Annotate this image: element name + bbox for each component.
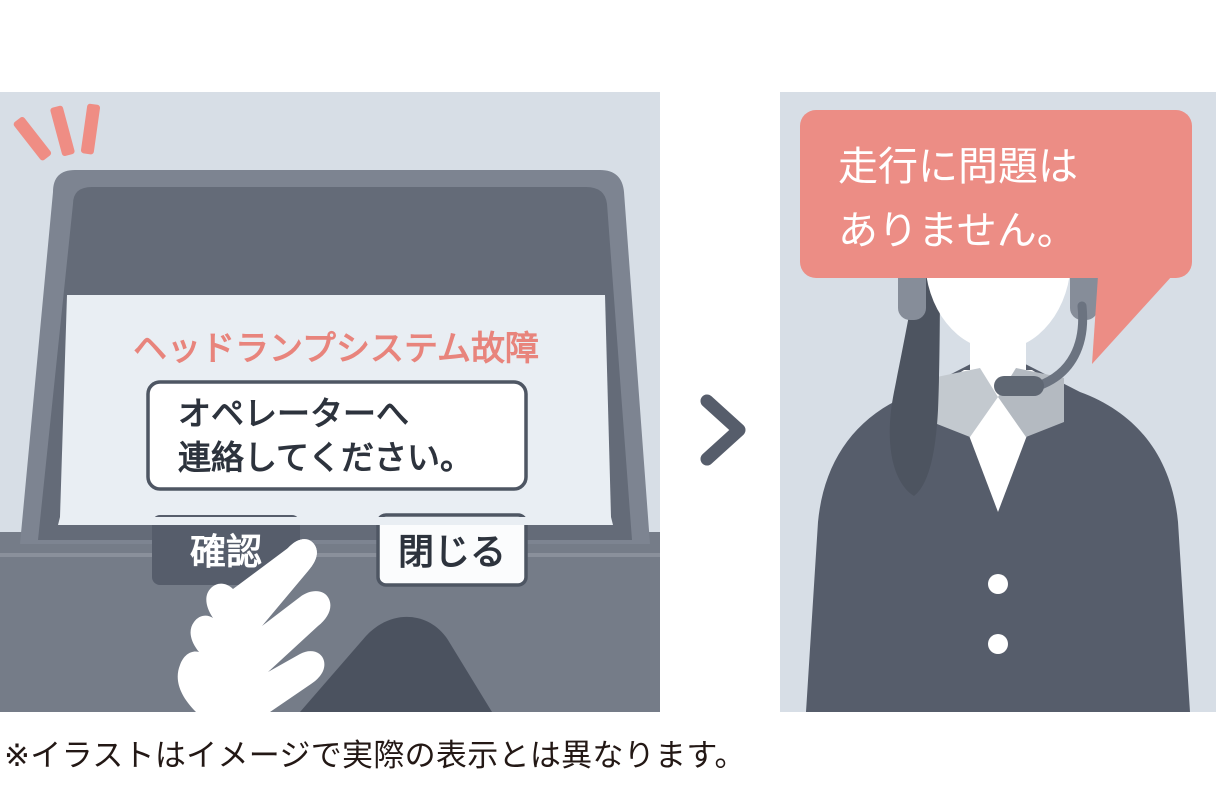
close-button-label: 閉じる [398, 531, 506, 572]
flow-arrow [675, 385, 775, 475]
headset-mic [994, 376, 1044, 396]
speech-line-1: 走行に問題は [838, 145, 1078, 189]
dashboard-seam [0, 553, 660, 557]
figure-caption: ※イラストはイメージで実際の表示とは異なります。 [4, 735, 1104, 777]
illustration-stage: ヘッドランプシステム故障 オペレーターへ 連絡してください。 確認 閉じる [0, 0, 1216, 810]
jacket-button-1 [988, 574, 1008, 594]
speech-line-2: ありません。 [838, 209, 1077, 253]
in-vehicle-display-panel: ヘッドランプシステム故障 オペレーターへ 連絡してください。 確認 閉じる [0, 92, 660, 712]
message-line-2: 連絡してください。 [178, 439, 473, 476]
chevron-right-icon [707, 401, 739, 459]
display-illustration: ヘッドランプシステム故障 オペレーターへ 連絡してください。 確認 閉じる [0, 92, 660, 712]
message-line-1: オペレーターへ [178, 395, 409, 432]
screen-lower-edge [58, 517, 613, 525]
operator-illustration: 走行に問題は ありません。 [780, 92, 1216, 712]
alert-title: ヘッドランプシステム故障 [133, 330, 539, 368]
confirm-button-label: 確認 [190, 531, 262, 572]
jacket-button-2 [988, 634, 1008, 654]
operator-panel: 走行に問題は ありません。 [780, 92, 1216, 712]
